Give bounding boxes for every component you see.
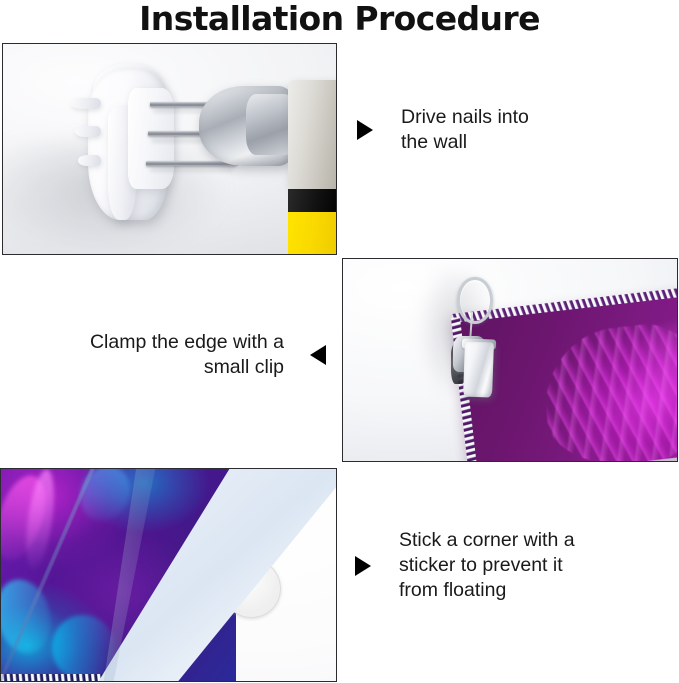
step-caption-clamp-edge: Clamp the edge with a small clip bbox=[18, 330, 326, 380]
clip-body bbox=[463, 341, 494, 397]
plastic-hook-wing bbox=[78, 155, 101, 166]
arrow-left-icon bbox=[310, 345, 326, 365]
step-caption-drive-nails: Drive nails into the wall bbox=[357, 105, 667, 155]
sticker-photo-scene bbox=[1, 469, 336, 681]
step-caption-text: Clamp the edge with a small clip bbox=[90, 330, 284, 380]
step-photo-drive-nails bbox=[2, 43, 337, 255]
hammer-grip-band bbox=[288, 189, 336, 212]
step-caption-text: Drive nails into the wall bbox=[401, 105, 529, 155]
tapestry-feather-pattern bbox=[538, 318, 677, 461]
page-title: Installation Procedure bbox=[0, 0, 679, 42]
clip-ring bbox=[457, 277, 492, 323]
step-photo-clamp-edge bbox=[342, 258, 678, 462]
arrow-right-icon bbox=[357, 120, 373, 140]
hammer-shaft bbox=[288, 80, 336, 189]
clip-photo-scene bbox=[343, 259, 677, 461]
arrow-right-icon bbox=[355, 556, 371, 576]
step-caption-text: Stick a corner with a sticker to prevent… bbox=[399, 528, 575, 603]
nail-shadow bbox=[150, 168, 233, 171]
plastic-hook-wing bbox=[71, 98, 101, 110]
nails-photo-scene bbox=[3, 44, 336, 254]
hammer-grip bbox=[288, 212, 336, 254]
plastic-hook-wing bbox=[75, 126, 102, 138]
step-caption-stick-corner: Stick a corner with a sticker to prevent… bbox=[355, 528, 673, 603]
step-photo-stick-corner bbox=[0, 468, 337, 682]
